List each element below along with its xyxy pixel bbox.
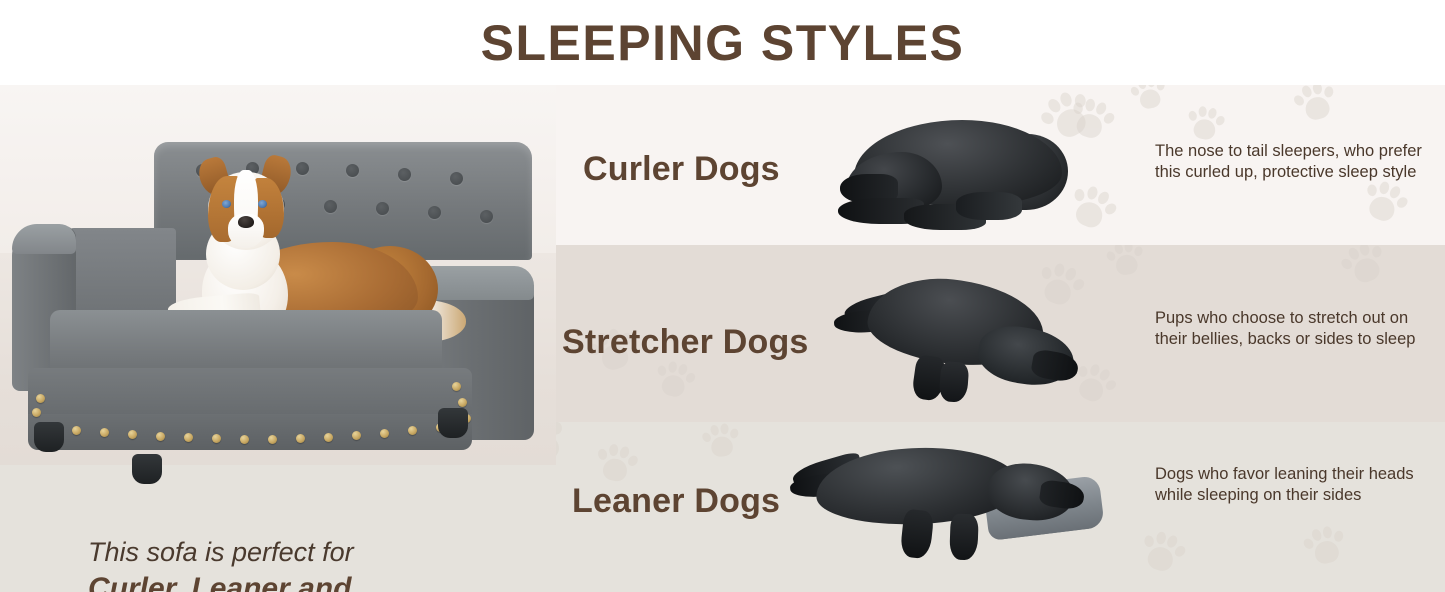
sofa-foot (132, 454, 162, 484)
sofa-foot (438, 408, 468, 438)
nailhead-icon (240, 435, 249, 444)
nailhead-icon (296, 434, 305, 443)
nailhead-icon (452, 382, 461, 391)
nailhead-icon (352, 431, 361, 440)
sleeping-styles-infographic: SLEEPING STYLES (0, 0, 1445, 592)
nailhead-icon (100, 428, 109, 437)
nailhead-icon (156, 432, 165, 441)
dog-photo-stretcher (828, 270, 1076, 402)
nailhead-icon (212, 434, 221, 443)
sofa-caption-line-2a: Curler, Leaner and (88, 571, 518, 592)
nailhead-icon (36, 394, 45, 403)
style-label-stretcher: Stretcher Dogs (562, 323, 809, 362)
nailhead-icon (324, 433, 333, 442)
pet-sofa-photo (0, 85, 556, 465)
nailhead-icon (268, 435, 277, 444)
sofa-left-arm-top (12, 224, 76, 254)
style-description-leaner: Dogs who favor leaning their heads while… (1155, 464, 1423, 507)
nailhead-icon (408, 426, 417, 435)
style-description-curler: The nose to tail sleepers, who prefer th… (1155, 141, 1423, 184)
style-description-stretcher: Pups who choose to stretch out on their … (1155, 308, 1423, 351)
grey-pet-sofa (6, 140, 546, 460)
sofa-caption: This sofa is perfect for Curler, Leaner … (88, 535, 518, 592)
nailhead-icon (72, 426, 81, 435)
dog-photo-curler (836, 112, 1072, 240)
header-banner: SLEEPING STYLES (0, 0, 1445, 85)
style-label-curler: Curler Dogs (583, 150, 780, 189)
dog-photo-leaner (790, 436, 1110, 566)
nailhead-icon (184, 433, 193, 442)
sofa-foot (34, 422, 64, 452)
style-label-leaner: Leaner Dogs (572, 482, 780, 521)
nailhead-icon (128, 430, 137, 439)
nailhead-icon (458, 398, 467, 407)
nailhead-icon (32, 408, 41, 417)
sofa-caption-line-1: This sofa is perfect for (88, 535, 518, 569)
product-photo-panel: This sofa is perfect for Curler, Leaner … (0, 85, 556, 592)
page-title: SLEEPING STYLES (481, 18, 965, 68)
sofa-base-skirt (28, 414, 472, 450)
nailhead-icon (380, 429, 389, 438)
